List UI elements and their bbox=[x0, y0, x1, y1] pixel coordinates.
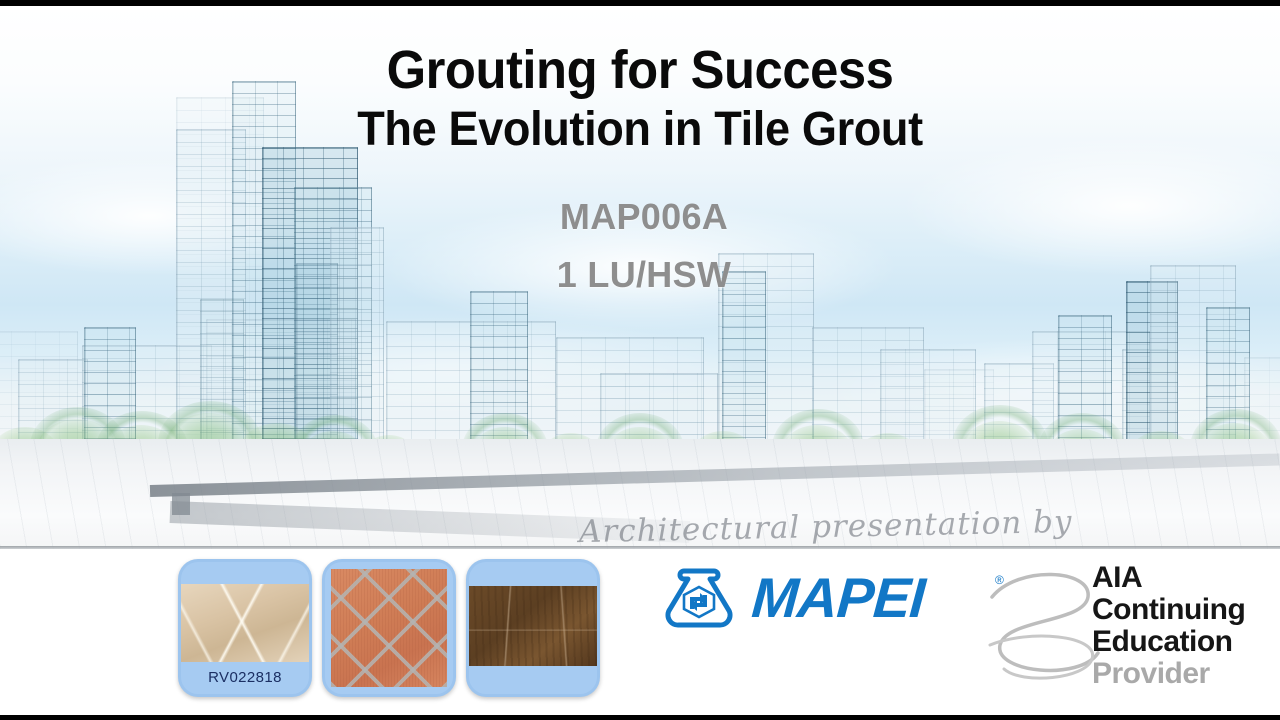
title-block: Grouting for Success The Evolution in Ti… bbox=[0, 0, 1280, 156]
credit-value: 1 LU/HSW bbox=[8, 254, 1280, 296]
presentation-title-slide: Architectural presentation by Grouting f… bbox=[0, 0, 1280, 720]
aia-swirl-icon bbox=[988, 557, 1108, 697]
dark-wood-plank-tile-image bbox=[469, 586, 597, 666]
aia-line-continuing: Continuing bbox=[1092, 595, 1272, 625]
aia-continuing-education-provider-logo: AIA Continuing Education Provider bbox=[1092, 563, 1272, 689]
letterbox-bar-top bbox=[0, 0, 1280, 6]
mapei-flask-recycle-emblem-icon bbox=[660, 567, 738, 629]
mapei-wordmark: MAPEI bbox=[750, 565, 927, 630]
aia-line-education: Education bbox=[1092, 627, 1272, 657]
aia-line-aia: AIA bbox=[1092, 563, 1272, 593]
ground-marker bbox=[172, 493, 190, 515]
tile-thumbnail-beige-marble[interactable]: RV022818 bbox=[178, 559, 312, 697]
revision-code-label: RV022818 bbox=[181, 669, 309, 686]
tile-thumbnail-wood-plank[interactable] bbox=[466, 559, 600, 697]
footer-bar: RV022818 bbox=[0, 549, 1280, 715]
letterbox-bar-bottom bbox=[0, 715, 1280, 720]
tile-thumbnail-inner bbox=[325, 562, 453, 694]
aia-line-provider: Provider bbox=[1092, 659, 1272, 689]
tile-thumbnail-inner: RV022818 bbox=[181, 562, 309, 694]
beige-marble-diagonal-tile-image bbox=[181, 584, 309, 662]
slide-title-secondary: The Evolution in Tile Grout bbox=[38, 105, 1241, 156]
tile-thumbnail-inner bbox=[469, 562, 597, 694]
mapei-logo[interactable]: MAPEI ® bbox=[660, 567, 1010, 647]
subtitle-block: MAP006A 1 LU/HSW bbox=[0, 196, 1280, 296]
slide-title-primary: Grouting for Success bbox=[38, 42, 1241, 99]
tile-thumbnail-terracotta[interactable] bbox=[322, 559, 456, 697]
course-code: MAP006A bbox=[8, 196, 1280, 238]
terracotta-diagonal-tile-image bbox=[331, 569, 447, 687]
